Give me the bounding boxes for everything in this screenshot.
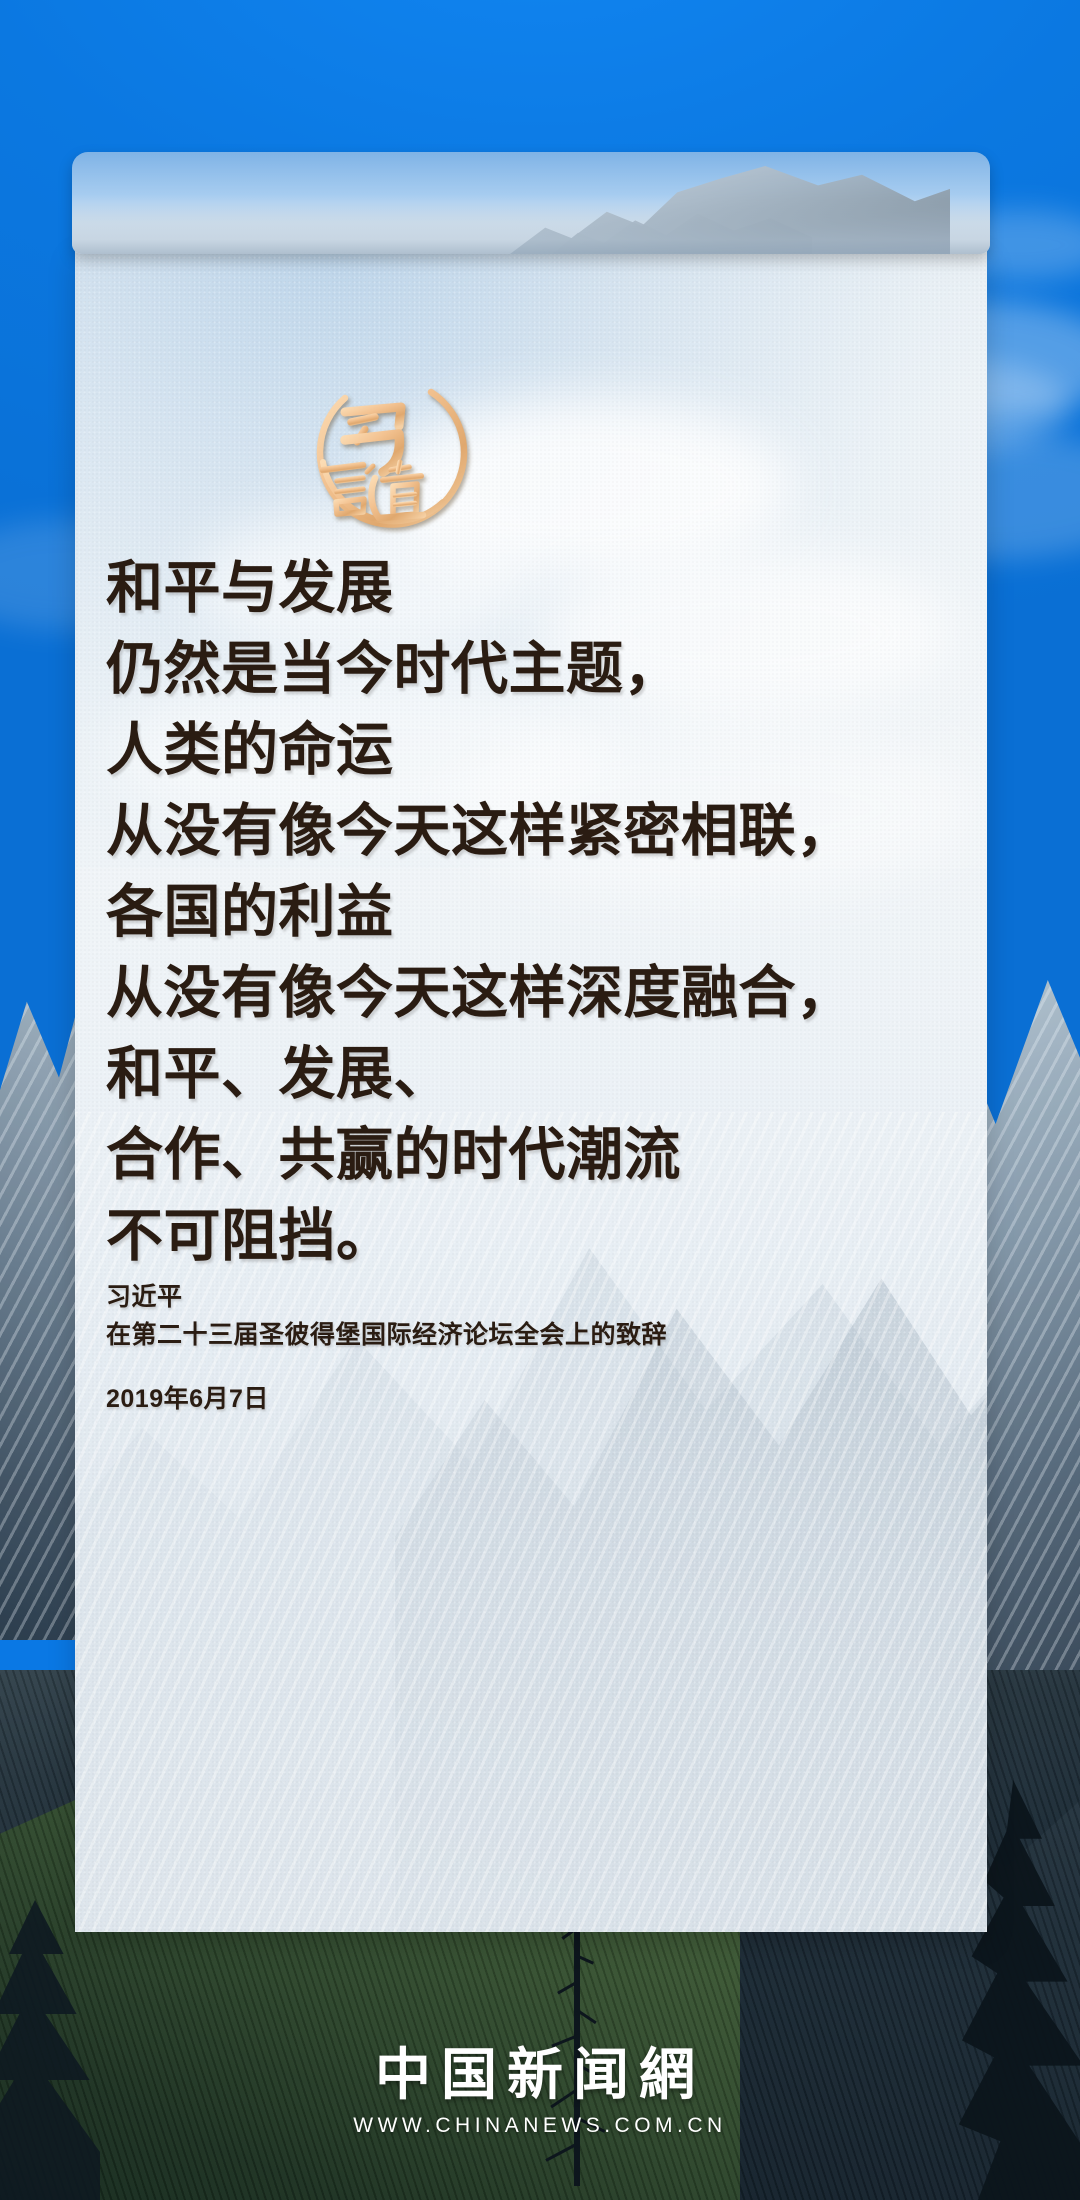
site-watermark: 中国新闻網 WWW.CHINANEWS.COM.CN [0,2040,1080,2138]
quote-line-5: 各国的利益 [106,872,966,953]
quote-line-7: 和平、发展、 [106,1034,966,1115]
speech-occasion: 在第二十三届圣彼得堡国际经济论坛全会上的致辞 [106,1316,926,1354]
quote-line-2: 仍然是当今时代主题， [106,629,966,710]
poster-scroll: 和平与发展 仍然是当今时代主题， 人类的命运 从没有像今天这样紧密相联， 各国的… [75,152,987,1932]
curl-shading [72,152,990,254]
site-url: WWW.CHINANEWS.COM.CN [0,2114,1080,2138]
quote-line-6: 从没有像今天这样深度融合， [106,953,966,1034]
scroll-top-curl [72,152,990,254]
quote-line-3: 人类的命运 [106,710,966,791]
quote-line-1: 和平与发展 [106,548,966,629]
attribution-block: 习近平 在第二十三届圣彼得堡国际经济论坛全会上的致辞 2019年6月7日 [106,1278,926,1418]
quote-line-9: 不可阻挡。 [106,1196,966,1277]
quote-text: 和平与发展 仍然是当今时代主题， 人类的命运 从没有像今天这样紧密相联， 各国的… [106,548,966,1277]
site-name-logo: 中国新闻網 [0,2040,1080,2110]
quote-line-4: 从没有像今天这样紧密相联， [106,791,966,872]
speaker-name: 习近平 [106,1278,926,1316]
xi-yan-dao-seal-icon [305,366,473,534]
scroll-paper: 和平与发展 仍然是当今时代主题， 人类的命运 从没有像今天这样紧密相联， 各国的… [75,248,987,1932]
speech-date: 2019年6月7日 [106,1380,926,1418]
quote-line-8: 合作、共赢的时代潮流 [106,1115,966,1196]
